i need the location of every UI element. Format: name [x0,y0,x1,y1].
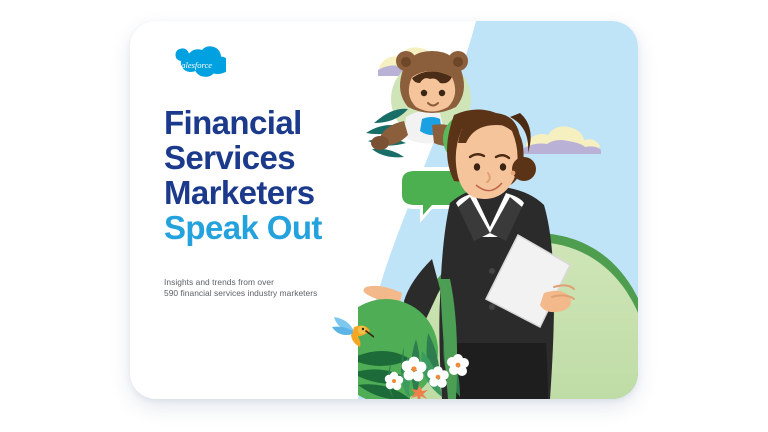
ebook-cover-card: salesforce Financial Services Marketers … [130,21,638,399]
eye-right [500,163,506,171]
page-title: Financial Services Marketers Speak Out [164,105,394,245]
title-line-4-accent: Speak Out [164,210,394,245]
salesforce-cloud-logo[interactable]: salesforce [164,45,226,85]
illustration-svg [358,21,638,399]
title-line-3: Marketers [164,175,394,210]
cover-illustration [358,21,638,399]
hair-bun [512,157,536,181]
card-inner: salesforce Financial Services Marketers … [130,21,638,399]
right-hand [540,291,571,312]
salesforce-wordmark: salesforce [178,60,212,70]
screenshot-canvas: salesforce Financial Services Marketers … [0,0,768,432]
astro-eye-right [439,90,445,96]
salesforce-logo-svg: salesforce [164,45,226,85]
subtitle: Insights and trends from over 590 financ… [164,277,394,300]
title-line-1: Financial [164,105,394,140]
title-line-2: Services [164,140,394,175]
astro-eye-left [421,90,427,96]
cover-text-column: salesforce Financial Services Marketers … [164,45,394,300]
subtitle-line-2: 590 financial services industry marketer… [164,288,394,299]
hummingbird-icon [330,311,374,351]
eye-left [474,163,480,171]
subtitle-line-1: Insights and trends from over [164,277,394,288]
